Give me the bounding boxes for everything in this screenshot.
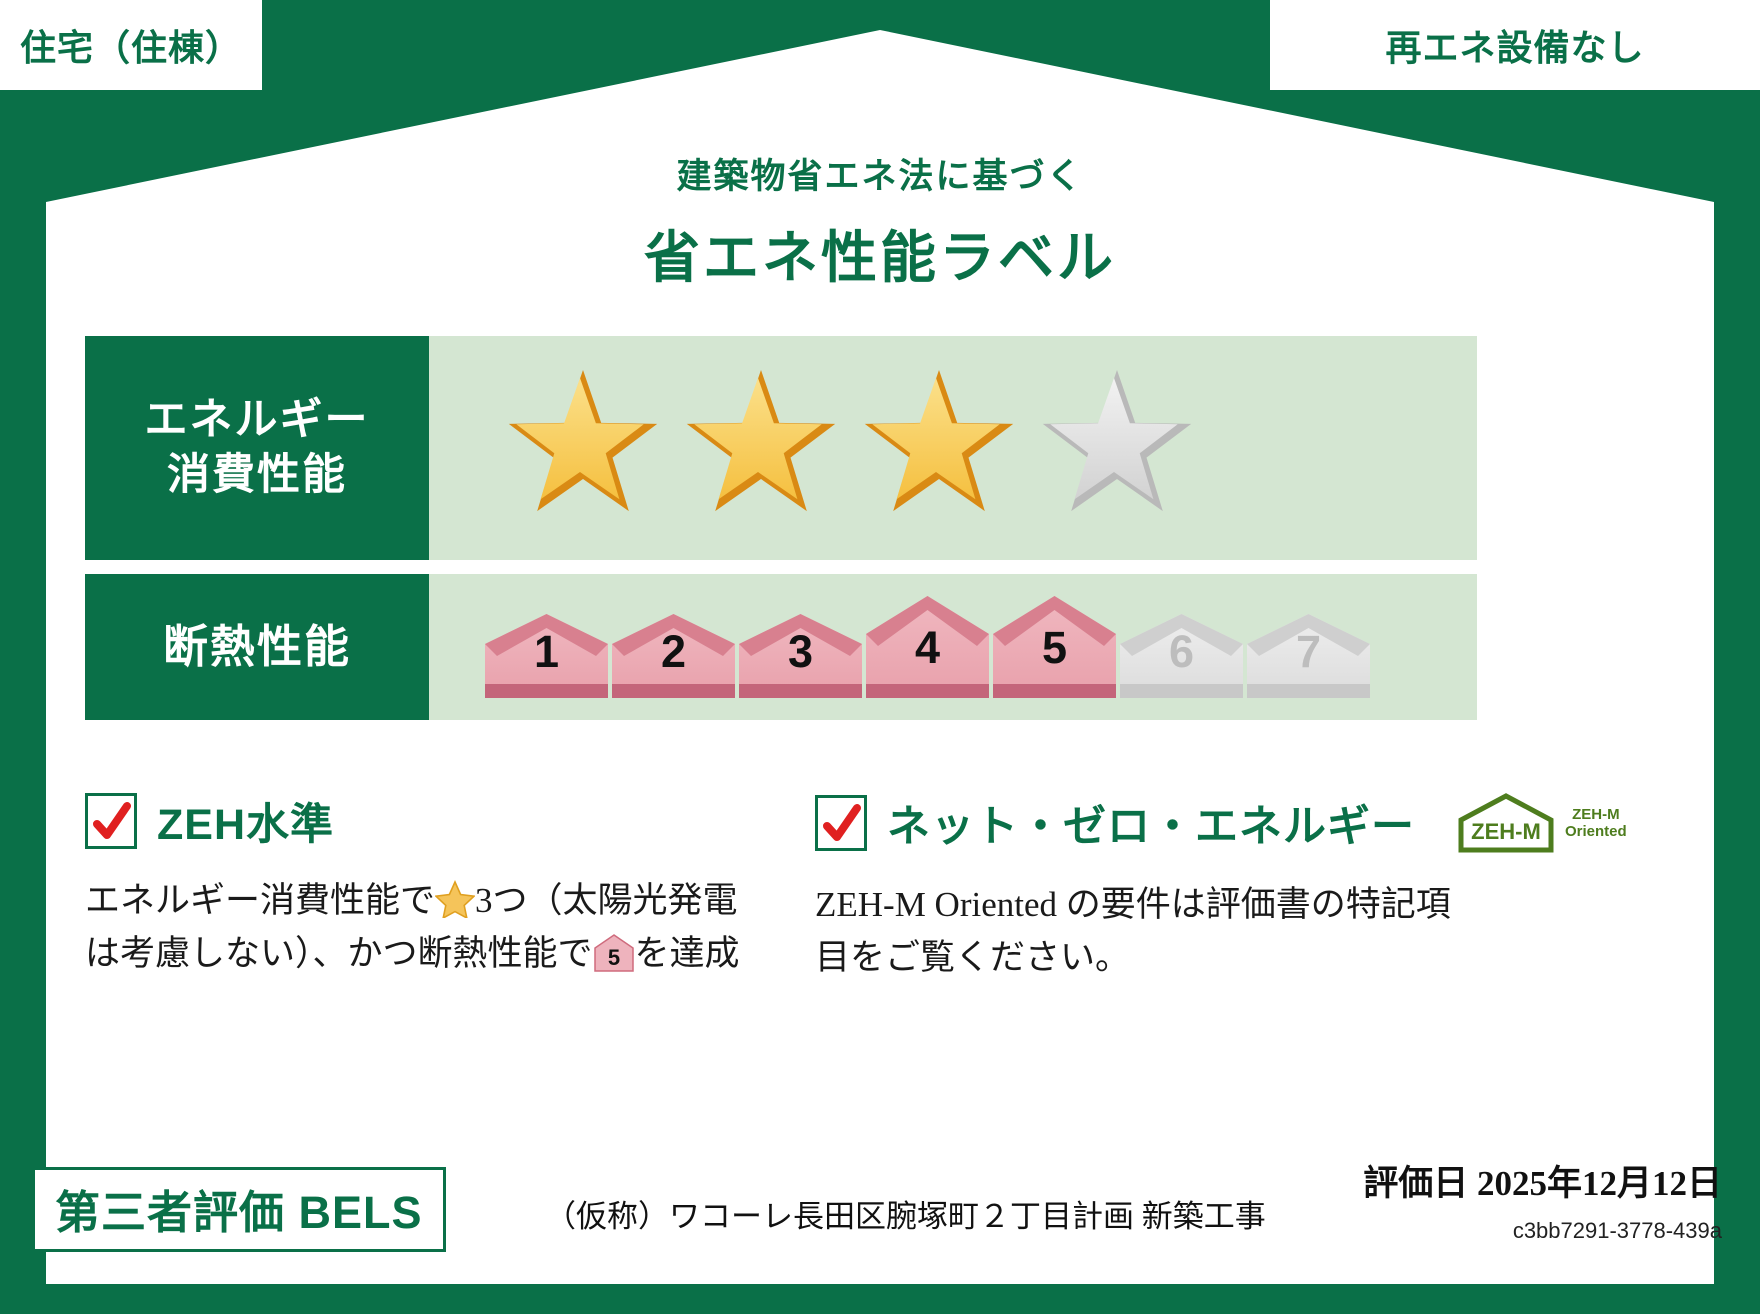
insulation-level-number: 1 xyxy=(483,626,610,678)
insulation-level-number: 7 xyxy=(1245,626,1372,678)
bels-third-party-badge: 第三者評価 BELS xyxy=(32,1167,446,1252)
zeh-standard-description: エネルギー消費性能で3つ（太陽光発電は考慮しない）、かつ断熱性能で5を達成 xyxy=(85,874,785,980)
insulation-level-7: 7 xyxy=(1245,612,1372,700)
net-zero-header: ネット・ゼロ・エネルギー ZEH-M ZEH-M Oriented xyxy=(815,790,1485,856)
insulation-level-3: 3 xyxy=(737,612,864,700)
zeh-standard-checkbox[interactable] xyxy=(85,793,137,849)
insulation-level-number: 6 xyxy=(1118,626,1245,678)
check-icon xyxy=(820,800,864,850)
zeh-standard-header: ZEH水準 xyxy=(85,790,785,852)
zehm-logo-side-text: ZEH-M Oriented xyxy=(1565,806,1627,841)
net-zero-description: ZEH-M Oriented の要件は評価書の特記項目をご覧ください。 xyxy=(815,878,1485,984)
row-insulation-label: 断熱性能 xyxy=(85,574,429,720)
insulation-level-1: 1 xyxy=(483,612,610,700)
svg-text:5: 5 xyxy=(607,945,619,970)
net-zero-energy-column: ネット・ゼロ・エネルギー ZEH-M ZEH-M Oriented ZEH-M … xyxy=(785,790,1485,984)
row-energy-label-line1: エネルギー xyxy=(145,396,370,444)
zehm-house-icon: ZEH-M xyxy=(1453,790,1559,856)
evaluation-date: 評価日 2025年12月12日 xyxy=(1363,1155,1722,1206)
inline-star-icon xyxy=(435,880,475,918)
star-filled-icon xyxy=(677,368,845,528)
row-energy-body xyxy=(429,336,1477,560)
insulation-level-5: 5 xyxy=(991,594,1118,700)
insulation-level-number: 4 xyxy=(864,622,991,674)
star-empty-icon xyxy=(1033,368,1201,528)
row-energy-label-line2: 消費性能 xyxy=(167,451,347,499)
zeh-desc-stars: 3つ（太陽光発電 xyxy=(475,881,738,920)
insulation-level-number: 5 xyxy=(991,622,1118,674)
zeh-standard-column: ZEH水準 エネルギー消費性能で3つ（太陽光発電は考慮しない）、かつ断熱性能で5… xyxy=(85,790,785,984)
row-energy-performance: エネルギー 消費性能 xyxy=(85,336,1477,560)
insulation-level-4: 4 xyxy=(864,594,991,700)
insulation-level-number: 3 xyxy=(737,626,864,678)
insulation-level-number: 2 xyxy=(610,626,737,678)
label-title-block: 建築物省エネ法に基づく 省エネ性能ラベル xyxy=(0,148,1760,294)
row-insulation-performance: 断熱性能 1234567 xyxy=(85,574,1477,720)
evaluation-id: c3bb7291-3778-439a xyxy=(1513,1218,1722,1244)
check-icon xyxy=(90,798,134,848)
zehm-side-bottom: Oriented xyxy=(1565,823,1627,840)
zeh-standard-title: ZEH水準 xyxy=(157,790,334,852)
project-name: （仮称）ワコーレ長田区腕塚町２丁目計画 新築工事 xyxy=(545,1191,1266,1236)
badge-renewable-equipment: 再エネ設備なし xyxy=(1270,0,1760,90)
insulation-level-6: 6 xyxy=(1118,612,1245,700)
star-filled-icon xyxy=(855,368,1023,528)
zeh-desc-part3: を達成 xyxy=(635,934,740,973)
row-insulation-body: 1234567 xyxy=(429,574,1477,720)
zeh-desc-part2: は考慮しない）、かつ断熱性能で xyxy=(85,934,593,973)
net-zero-title: ネット・ゼロ・エネルギー xyxy=(887,792,1415,854)
star-rating xyxy=(499,368,1201,528)
insulation-level-scale: 1234567 xyxy=(483,594,1372,700)
insulation-level-2: 2 xyxy=(610,612,737,700)
net-zero-checkbox[interactable] xyxy=(815,795,867,851)
rating-rows: エネルギー 消費性能 断熱性能 1234567 xyxy=(85,336,1477,734)
criteria-section: ZEH水準 エネルギー消費性能で3つ（太陽光発電は考慮しない）、かつ断熱性能で5… xyxy=(85,790,1485,984)
zeh-desc-part1: エネルギー消費性能で xyxy=(85,881,435,920)
inline-house-level-icon: 5 xyxy=(593,933,635,973)
zehm-side-top: ZEH-M xyxy=(1565,806,1627,823)
row-energy-label: エネルギー 消費性能 xyxy=(85,336,429,560)
title-subtitle: 建築物省エネ法に基づく xyxy=(0,148,1760,199)
star-filled-icon xyxy=(499,368,667,528)
svg-text:ZEH-M: ZEH-M xyxy=(1471,819,1541,844)
badge-dwelling-type: 住宅（住棟） xyxy=(0,0,262,90)
zehm-oriented-logo: ZEH-M ZEH-M Oriented xyxy=(1453,790,1627,856)
title-main: 省エネ性能ラベル xyxy=(0,213,1760,294)
